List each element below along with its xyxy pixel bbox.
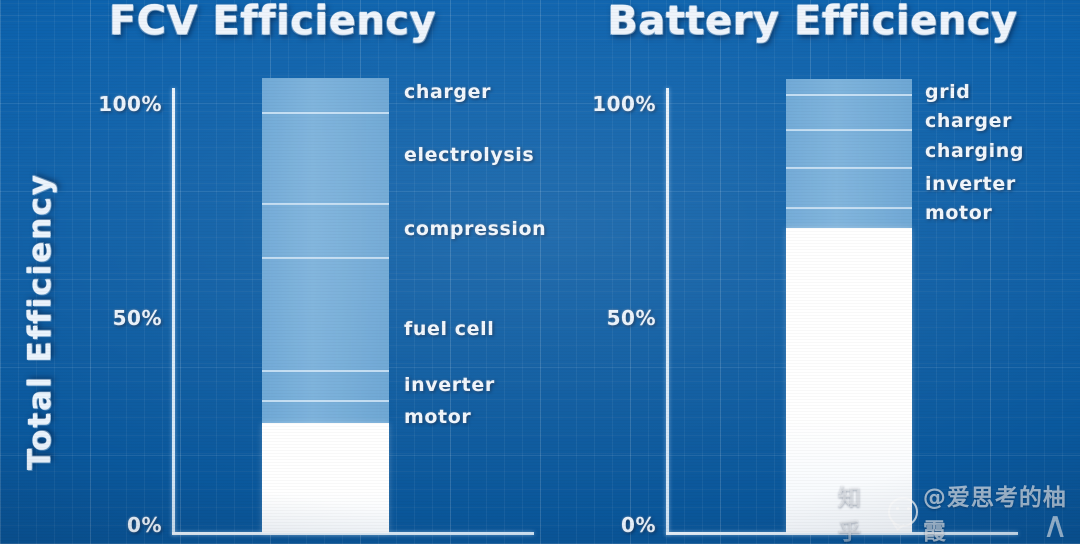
y-tick-50-battery: 50% [556, 306, 656, 330]
chart-title-battery: Battery Efficiency [545, 0, 1080, 44]
y-tick-50-fcv: 50% [62, 306, 162, 330]
bar-segment-motor-battery[interactable] [786, 207, 912, 228]
bar-label-electrolysis-fcv: electrolysis [404, 144, 534, 166]
infographic-stage: FCV Efficiency Battery Efficiency Total … [0, 0, 1080, 544]
stacked-bar-fcv[interactable] [262, 78, 389, 533]
bar-segment-motor-fcv[interactable] [262, 400, 389, 423]
y-axis-title: Total Efficiency [22, 173, 58, 470]
y-tick-100-battery: 100% [556, 92, 656, 116]
bar-label-charger-battery: charger [925, 110, 1012, 132]
bar-segment-electrolysis-fcv[interactable] [262, 112, 389, 203]
bar-segment-charging-battery[interactable] [786, 129, 912, 167]
bar-label-charger-fcv: charger [404, 81, 491, 103]
bar-segment-charger-battery[interactable] [786, 94, 912, 129]
bar-segment-total-efficiency-battery[interactable] [786, 228, 912, 533]
bar-segment-inverter-fcv[interactable] [262, 370, 389, 400]
bar-label-motor-fcv: motor [404, 406, 471, 428]
y-tick-0-battery: 0% [556, 513, 656, 537]
watermark-caret-icon: ∧ [1042, 505, 1068, 544]
y-axis-line-battery [666, 88, 669, 535]
bar-label-charging-battery: charging [925, 140, 1024, 162]
y-tick-100-fcv: 100% [62, 92, 162, 116]
chart-title-fcv: FCV Efficiency [0, 0, 545, 44]
bar-segment-total-efficiency-fcv[interactable] [262, 423, 389, 533]
bar-label-motor-battery: motor [925, 202, 992, 224]
bar-segment-grid-battery[interactable] [786, 79, 912, 94]
bar-segment-charger-fcv[interactable] [262, 78, 389, 112]
bar-label-inverter-fcv: inverter [404, 374, 495, 396]
bar-label-fuel-cell-fcv: fuel cell [404, 318, 494, 340]
bar-label-compression-fcv: compression [404, 218, 546, 240]
bar-label-grid-battery: grid [925, 81, 970, 103]
bar-label-inverter-battery: inverter [925, 173, 1016, 195]
y-axis-line-fcv [172, 88, 175, 535]
bar-segment-compression-fcv[interactable] [262, 203, 389, 257]
bar-segment-inverter-battery[interactable] [786, 167, 912, 207]
bar-segment-fuel-cell-fcv[interactable] [262, 257, 389, 370]
y-tick-0-fcv: 0% [62, 513, 162, 537]
stacked-bar-battery[interactable] [786, 79, 912, 533]
